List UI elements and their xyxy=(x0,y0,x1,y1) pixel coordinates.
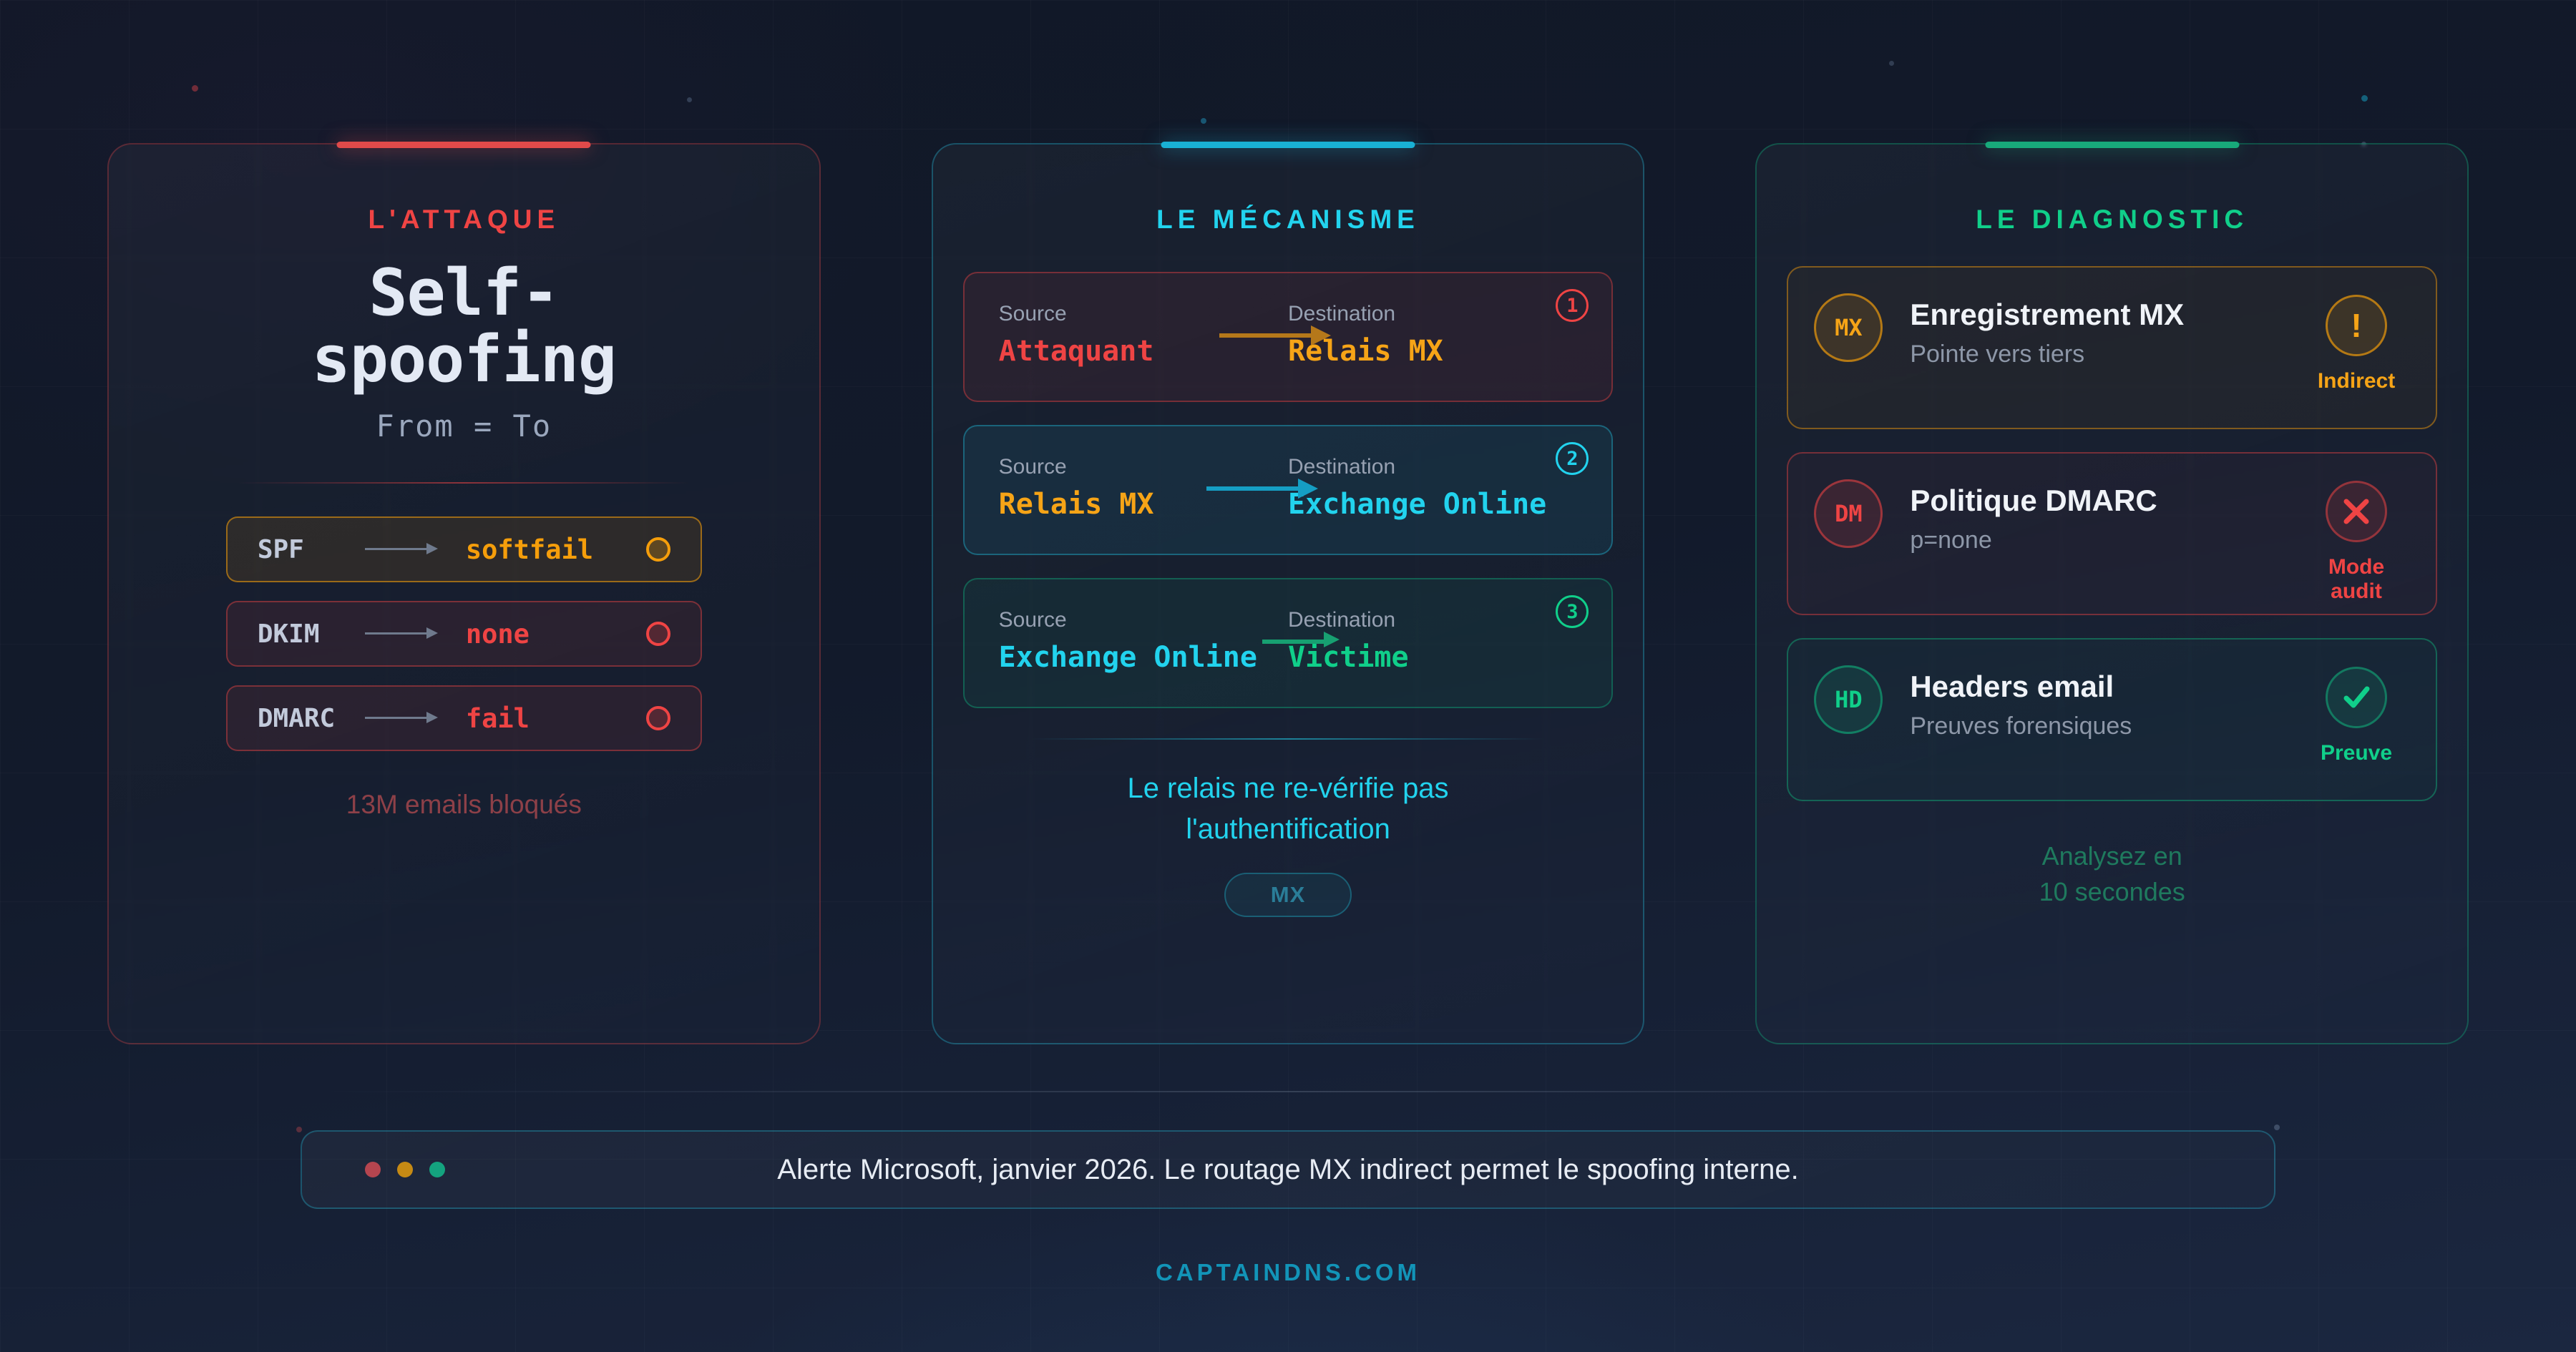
arrow-right-icon xyxy=(365,717,447,720)
diagnostic-cta-line2: 10 secondes xyxy=(2039,877,2185,906)
diagnostic-subtext: p=none xyxy=(1910,526,2303,554)
panel-title-diagnostic: LE DIAGNOSTIC xyxy=(1787,205,2437,235)
divider-cyan xyxy=(1030,738,1546,740)
step-number-badge: 3 xyxy=(1556,595,1589,628)
auth-key: DKIM xyxy=(258,619,365,649)
flow-destination-value: Relais MX xyxy=(1288,335,1577,368)
arrow-right-icon xyxy=(1262,640,1348,644)
auth-row-dkim[interactable]: DKIM none xyxy=(226,601,702,667)
panel-accent-bar xyxy=(337,142,591,148)
footer-message: Alerte Microsoft, janvier 2026. Le routa… xyxy=(302,1154,2274,1186)
mechanism-note-line1: Le relais ne re-vérifie pas xyxy=(1127,773,1448,804)
flow-destination-label: Destination xyxy=(1288,302,1577,326)
flow-steps-list: Source Attaquant Destination Relais MX 1 xyxy=(963,272,1614,708)
auth-key: DMARC xyxy=(258,704,365,733)
auth-row-spf[interactable]: SPF softfail xyxy=(226,516,702,582)
step-number-badge: 2 xyxy=(1556,442,1589,475)
mechanism-note: Le relais ne re-vérifie pas l'authentifi… xyxy=(963,768,1614,850)
auth-row-dmarc[interactable]: DMARC fail xyxy=(226,685,702,751)
flow-destination-label: Destination xyxy=(1288,608,1577,632)
panel-accent-bar xyxy=(1985,142,2239,148)
check-success-icon xyxy=(2326,667,2387,728)
status-badge: Mode audit xyxy=(2303,555,2410,604)
flow-source-label: Source xyxy=(999,608,1288,632)
mx-pill-badge[interactable]: MX xyxy=(1224,873,1352,917)
divider-red xyxy=(238,482,689,484)
attack-subtitle: From = To xyxy=(139,408,789,444)
diagnostic-subtext: Pointe vers tiers xyxy=(1910,341,2303,368)
panel-attack: L'ATTAQUE Self‑spoofing From = To SPF so… xyxy=(107,143,821,1044)
diagnostic-item-dmarc[interactable]: DM Politique DMARC p=none Mode audit xyxy=(1787,452,2437,615)
status-badge: Indirect xyxy=(2303,369,2410,393)
panel-accent-bar xyxy=(1161,142,1415,148)
diagnostic-items-list: MX Enregistrement MX Pointe vers tiers !… xyxy=(1787,266,2437,801)
status-badge: Preuve xyxy=(2303,741,2410,765)
avatar: MX xyxy=(1814,293,1883,362)
status-dot-error-icon xyxy=(646,622,670,646)
flow-destination-label: Destination xyxy=(1288,455,1577,479)
traffic-light-red-icon xyxy=(365,1162,381,1177)
flow-source-value: Relais MX xyxy=(999,488,1288,521)
diagnostic-cta: Analysez en 10 secondes xyxy=(1787,838,2437,911)
diagnostic-heading: Enregistrement MX xyxy=(1910,298,2303,332)
avatar: HD xyxy=(1814,665,1883,734)
status-dot-warning-icon xyxy=(646,537,670,562)
footer-divider xyxy=(322,1091,2254,1092)
panel-title-mechanism: LE MÉCANISME xyxy=(963,205,1614,235)
warning-exclamation-icon: ! xyxy=(2326,295,2387,356)
flow-step-3[interactable]: Source Exchange Online Destination Victi… xyxy=(963,578,1614,708)
auth-key: SPF xyxy=(258,535,365,564)
arrow-right-icon xyxy=(365,548,447,551)
panel-title-attack: L'ATTAQUE xyxy=(139,205,789,235)
auth-value: softfail xyxy=(447,534,646,565)
status-dot-error-icon xyxy=(646,706,670,730)
mechanism-note-line2: l'authentification xyxy=(1186,813,1390,845)
flow-step-1[interactable]: Source Attaquant Destination Relais MX 1 xyxy=(963,272,1614,402)
auth-value: none xyxy=(447,619,646,650)
step-number-badge: 1 xyxy=(1556,289,1589,322)
flow-source-value: Attaquant xyxy=(999,335,1288,368)
traffic-light-green-icon xyxy=(429,1162,445,1177)
diagnostic-cta-line1: Analysez en xyxy=(2042,841,2182,871)
auth-results-list: SPF softfail DKIM none DMARC fail xyxy=(139,516,789,751)
arrow-right-icon xyxy=(365,632,447,635)
attack-headline: Self‑spoofing xyxy=(139,260,789,393)
flow-source-value: Exchange Online xyxy=(999,641,1288,674)
diagnostic-heading: Politique DMARC xyxy=(1910,484,2303,518)
diagnostic-subtext: Preuves forensiques xyxy=(1910,712,2303,740)
auth-value: fail xyxy=(447,703,646,734)
panel-diagnostic: LE DIAGNOSTIC MX Enregistrement MX Point… xyxy=(1755,143,2469,1044)
traffic-light-dots xyxy=(365,1162,445,1177)
flow-source-label: Source xyxy=(999,455,1288,479)
arrow-right-icon xyxy=(1219,333,1334,338)
brand-label: CAPTAINDNS.COM xyxy=(0,1259,2576,1286)
panel-row: L'ATTAQUE Self‑spoofing From = To SPF so… xyxy=(107,143,2469,1044)
flow-step-2[interactable]: Source Relais MX Destination Exchange On… xyxy=(963,425,1614,555)
flow-source-label: Source xyxy=(999,302,1288,326)
traffic-light-yellow-icon xyxy=(397,1162,413,1177)
avatar: DM xyxy=(1814,479,1883,548)
flow-destination-value: Exchange Online xyxy=(1288,488,1577,521)
cross-error-icon xyxy=(2326,481,2387,542)
attack-footnote: 13M emails bloqués xyxy=(139,790,789,820)
diagnostic-item-mx[interactable]: MX Enregistrement MX Pointe vers tiers !… xyxy=(1787,266,2437,429)
arrow-right-icon xyxy=(1206,486,1342,491)
diagnostic-heading: Headers email xyxy=(1910,670,2303,704)
panel-mechanism: LE MÉCANISME Source Attaquant Destinatio… xyxy=(932,143,1645,1044)
footer-bar: Alerte Microsoft, janvier 2026. Le routa… xyxy=(301,1130,2275,1209)
diagnostic-item-headers[interactable]: HD Headers email Preuves forensiques Pre… xyxy=(1787,638,2437,801)
